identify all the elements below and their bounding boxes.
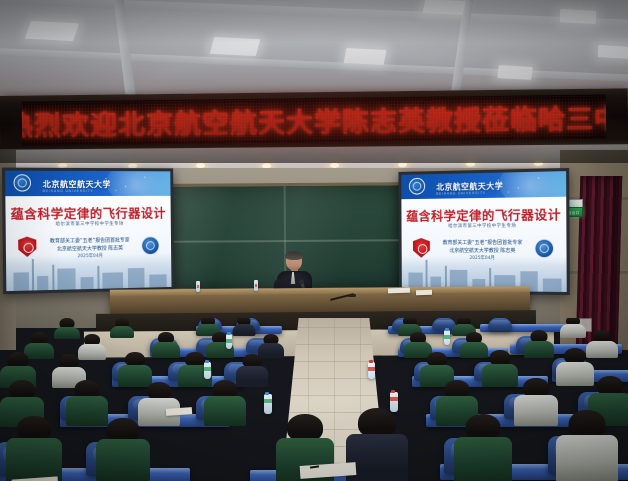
ceiling-beam [0, 47, 628, 83]
student-uniform [54, 327, 80, 339]
bottle-label [264, 399, 272, 403]
slide-university-pinyin: BEIHANG UNIVERSITY [43, 189, 94, 193]
downlight [534, 161, 543, 166]
bottle-cap [227, 332, 231, 335]
student-audience-member [560, 318, 586, 336]
student-uniform [152, 342, 180, 358]
led-banner: 热烈欢迎北京航空航天大学陈志英教授莅临哈三中 [0, 88, 628, 152]
student-uniform [454, 437, 512, 481]
mic-base [348, 294, 356, 297]
led-banner-text: 热烈欢迎北京航空航天大学陈志英教授莅临哈三中 [22, 97, 606, 144]
bottle-label [368, 367, 375, 371]
downlight [398, 162, 407, 167]
ceiling-panel-light [210, 37, 260, 56]
student-audience-member [556, 410, 618, 478]
student-audience-member [204, 380, 246, 424]
bottle-label [444, 335, 450, 339]
ceiling-panel-light [423, 0, 466, 15]
water-bottle-icon [254, 280, 258, 291]
downlight [466, 162, 475, 167]
student-audience-member [96, 418, 150, 478]
water-bottle-icon [264, 394, 272, 414]
water-bottle-icon [444, 330, 450, 345]
student-audience-member [514, 378, 558, 424]
student-audience-member [54, 318, 80, 336]
bottle-cap [205, 360, 209, 363]
ceiling-beam [0, 0, 628, 30]
bottle-label [204, 367, 211, 371]
student-uniform [556, 435, 618, 481]
student-uniform [560, 324, 586, 338]
bottle-cap [265, 392, 269, 395]
podium-papers [388, 288, 410, 294]
student-audience-member [118, 352, 152, 384]
bottle-cap [369, 360, 373, 363]
slide-university-pinyin: BEIHANG UNIVERSITY [436, 191, 486, 196]
ceiling-panel-light [497, 65, 533, 80]
slide-credit-line-1: 教育部关工委“五老”报告团首批专家 [402, 240, 567, 248]
slide-subtitle: 哈尔滨市第三中学校中学生专场 [6, 220, 171, 227]
water-bottle-icon [204, 362, 211, 379]
ceiling-panel-light [560, 9, 597, 24]
bottle-cap [445, 328, 449, 331]
podium-papers [416, 290, 432, 296]
student-audience-member [152, 332, 180, 356]
water-bottle-icon [390, 392, 398, 412]
student-uniform [514, 395, 558, 426]
student-uniform [6, 438, 62, 481]
microphone-stand [330, 288, 356, 300]
ceiling-panel-light [25, 21, 79, 41]
student-uniform [110, 326, 134, 338]
slide-subtitle: 哈尔滨市第三中学校中学生专场 [402, 222, 567, 229]
buaa-logo-icon [14, 175, 32, 192]
student-uniform [204, 396, 246, 426]
led-banner-screen: 热烈欢迎北京航空航天大学陈志英教授莅临哈三中 [22, 95, 606, 146]
water-bottle-icon [368, 362, 375, 379]
student-uniform [96, 439, 150, 481]
bottle-cap [391, 390, 395, 393]
ceiling-panel-light [344, 48, 387, 65]
student-uniform [524, 341, 554, 358]
student-audience-member [6, 416, 62, 478]
water-bottle-icon [226, 334, 232, 349]
speaker-hair [285, 251, 303, 260]
slide-header-band: 北京航空航天大学 BEIHANG UNIVERSITY [5, 171, 170, 196]
student-audience-member [258, 334, 284, 356]
slide-skyline-graphic [6, 252, 172, 291]
student-uniform [482, 364, 518, 387]
student-audience-member [110, 318, 134, 336]
student-uniform [232, 324, 255, 336]
lecture-hall-photo: 热烈欢迎北京航空航天大学陈志英教授莅临哈三中 注意 安全出口 [0, 0, 628, 481]
audience-seating [0, 318, 628, 481]
slide-header-band: 北京航空航天大学 BEIHANG UNIVERSITY [401, 171, 566, 199]
slide-left: 北京航空航天大学 BEIHANG UNIVERSITY 蕴含科学定律的飞行器设计… [5, 171, 171, 291]
projection-screen-left: 北京航空航天大学 BEIHANG UNIVERSITY 蕴含科学定律的飞行器设计… [2, 168, 174, 295]
water-bottle-icon [196, 281, 200, 292]
student-audience-member [524, 330, 554, 356]
slide-right: 北京航空航天大学 BEIHANG UNIVERSITY 蕴含科学定律的飞行器设计… [401, 171, 566, 292]
student-audience-member [482, 350, 518, 384]
projection-screen-right: 北京航空航天大学 BEIHANG UNIVERSITY 蕴含科学定律的飞行器设计… [398, 168, 569, 295]
bottle-label [226, 339, 232, 343]
ceiling-panel-light [598, 45, 628, 59]
student-chair [488, 318, 512, 331]
student-audience-member [454, 414, 512, 478]
student-audience-member [232, 318, 255, 334]
bottle-label [390, 397, 398, 401]
